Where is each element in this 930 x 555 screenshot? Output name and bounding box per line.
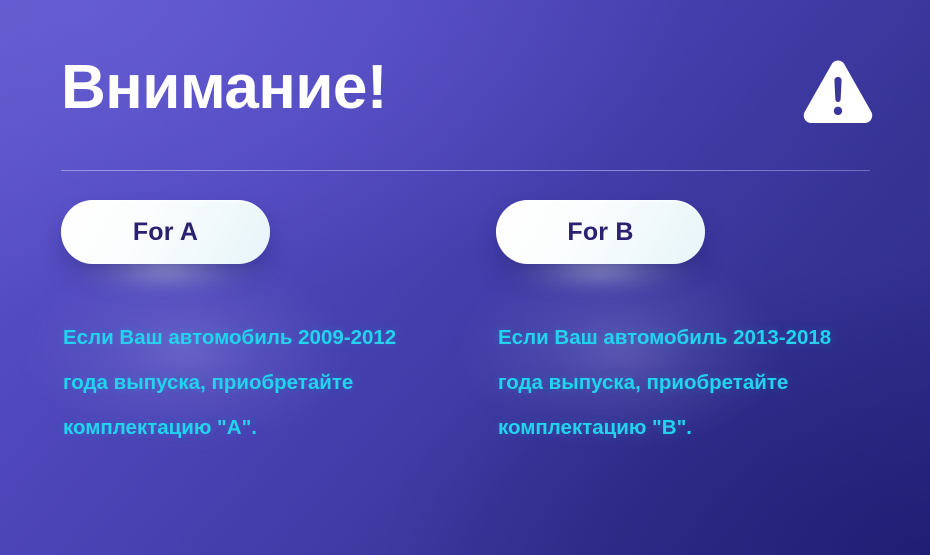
option-b-line-3: комплектацию "В". bbox=[498, 405, 870, 450]
option-b-description: Если Ваш автомобиль 2013-2018 года выпус… bbox=[498, 315, 870, 450]
header-divider bbox=[61, 170, 870, 171]
for-b-button[interactable]: For B bbox=[496, 200, 705, 264]
pill-wrapper-a: For A bbox=[61, 200, 270, 264]
options-columns: For A Если Ваш автомобиль 2009-2012 года… bbox=[0, 200, 930, 450]
banner-header: Внимание! bbox=[0, 0, 930, 170]
pill-wrapper-b: For B bbox=[496, 200, 705, 264]
for-a-button[interactable]: For A bbox=[61, 200, 270, 264]
option-b-line-2: года выпуска, приобретайте bbox=[498, 360, 870, 405]
page-title: Внимание! bbox=[61, 56, 387, 119]
warning-triangle-icon bbox=[803, 58, 873, 126]
attention-banner: Внимание! For A Если Ваш автомобиль 2009… bbox=[0, 0, 930, 555]
option-b-line-1: Если Ваш автомобиль 2013-2018 bbox=[498, 315, 870, 360]
